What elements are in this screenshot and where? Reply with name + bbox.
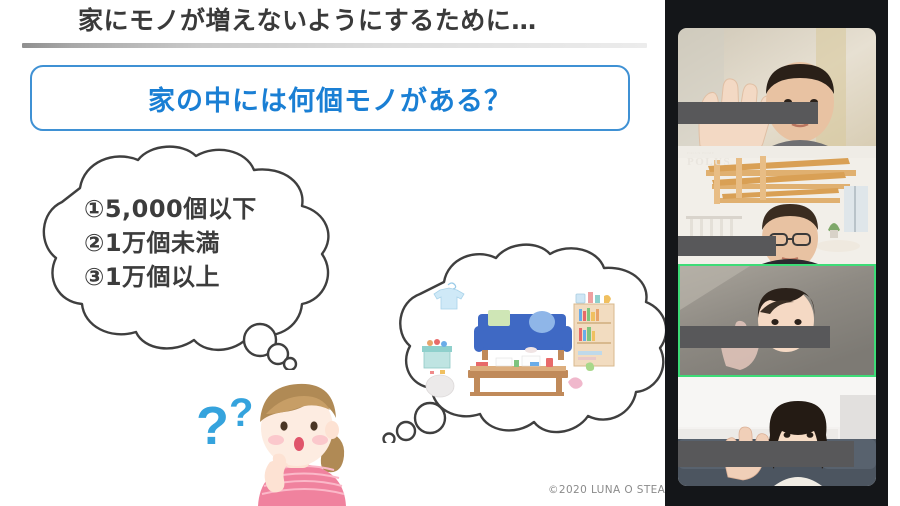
video-tile-1[interactable] xyxy=(678,28,876,146)
toy-box-icon xyxy=(422,339,452,374)
title-divider xyxy=(22,43,647,48)
video-tile-3[interactable] xyxy=(678,264,876,377)
page-title: 家にモノが増えないようにするために… xyxy=(78,4,638,38)
video-conference-panel: POLUS HOMEPOLUS xyxy=(665,0,888,506)
question-box: 家の中には何個モノがある？ xyxy=(30,65,630,131)
floor-toy-icon xyxy=(568,377,583,388)
video-feed-3 xyxy=(680,266,874,375)
participant-name-redaction-3 xyxy=(680,326,830,348)
participant-name-redaction-2 xyxy=(678,236,776,256)
beanbag-icon xyxy=(426,375,454,397)
bookshelf-icon xyxy=(574,292,614,366)
participant-name-redaction-1 xyxy=(678,102,818,124)
polus-watermark: POLUS HOMEPOLUS xyxy=(687,151,731,168)
answer-option-2: ②1万個未満 xyxy=(84,226,354,260)
answer-options-list: ①5,000個以下 ②1万個未満 ③1万個以上 xyxy=(84,192,354,294)
participant-name-redaction-4 xyxy=(678,441,854,467)
answer-option-3: ③1万個以上 xyxy=(84,260,354,294)
coffee-table-icon xyxy=(468,356,568,396)
slide-with-video-panel: 家にモノが増えないようにするために… 家の中には何個モノがある？ ①5,000個… xyxy=(0,0,900,506)
video-tile-4[interactable] xyxy=(678,377,876,486)
thinking-woman-illustration xyxy=(196,378,376,506)
video-feed-1 xyxy=(678,28,876,146)
answer-option-1: ①5,000個以下 xyxy=(84,192,354,226)
cluttered-living-room-illustration xyxy=(418,278,618,403)
question-box-text: 家の中には何個モノがある？ xyxy=(148,79,512,118)
hanging-shirt-icon xyxy=(434,283,464,309)
floor-item-icon xyxy=(525,347,537,353)
video-tile-grid: POLUS HOMEPOLUS xyxy=(678,28,876,478)
video-tile-2[interactable]: POLUS HOMEPOLUS xyxy=(678,146,876,264)
presentation-slide: 家にモノが増えないようにするために… 家の中には何個モノがある？ ①5,000個… xyxy=(0,0,665,506)
copyright-notice: ©2020 LUNA O STEA xyxy=(548,484,665,496)
sofa-icon xyxy=(474,310,572,360)
video-feed-4 xyxy=(678,377,876,486)
